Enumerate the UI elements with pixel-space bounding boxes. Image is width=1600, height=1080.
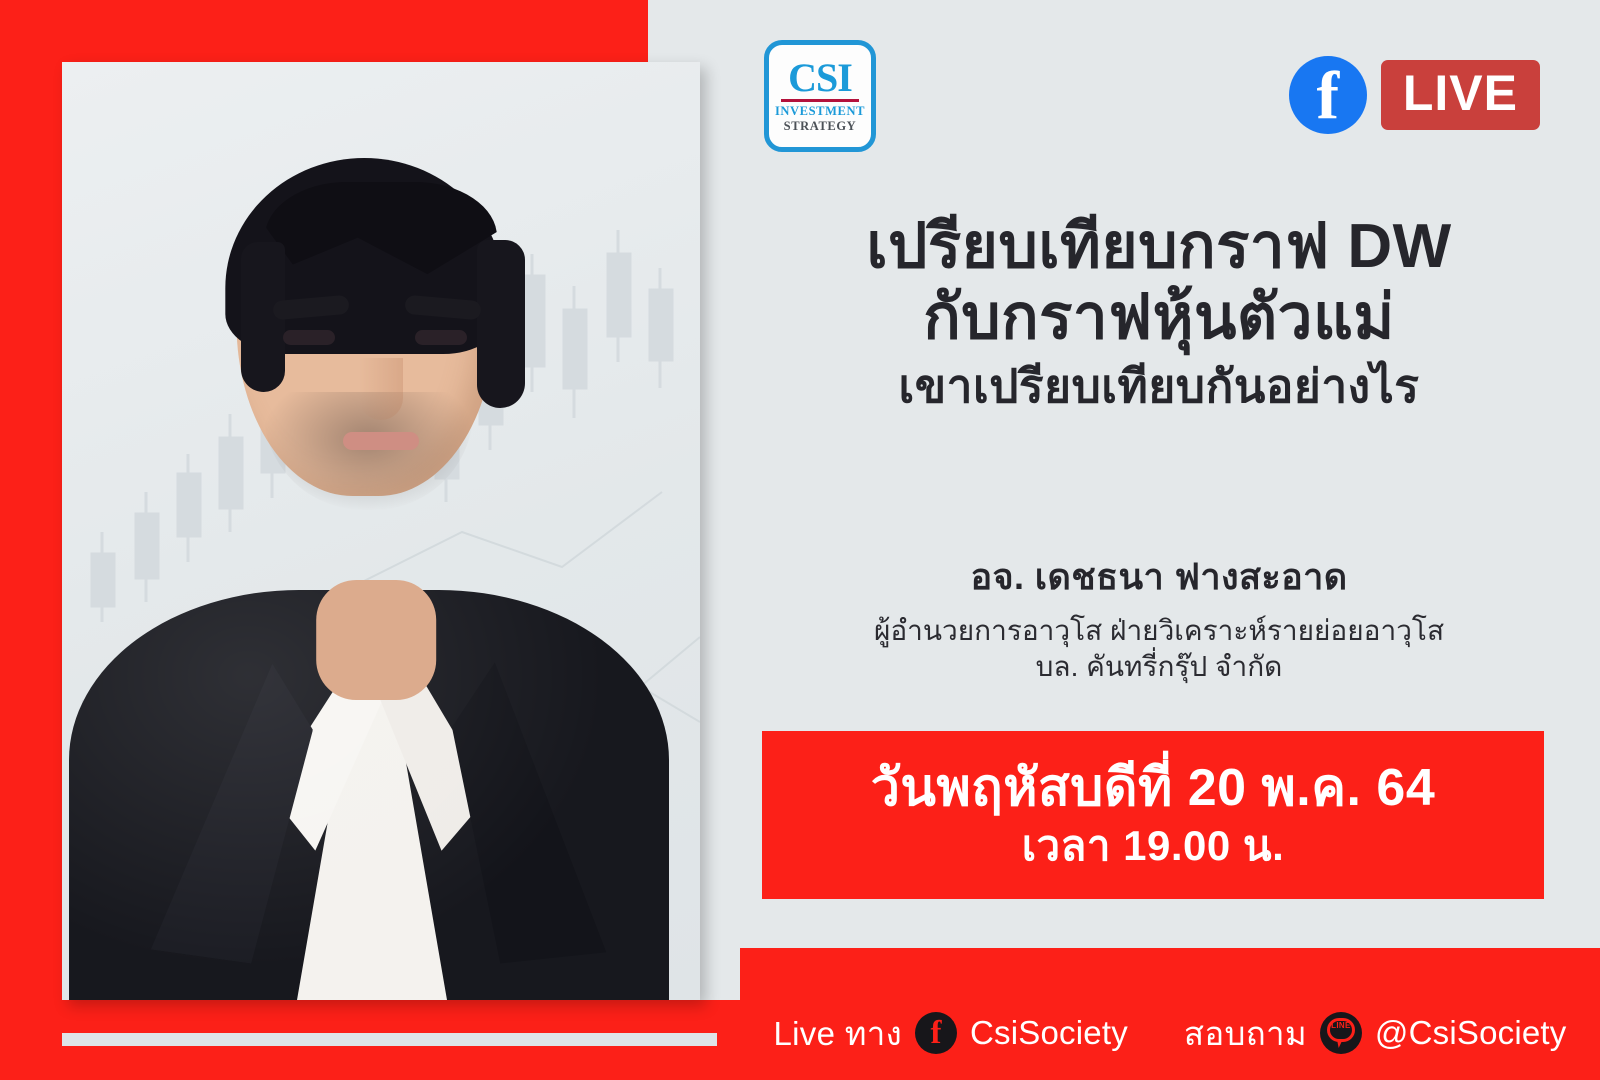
csi-logo-subtitle-strategy: STRATEGY [784,119,857,134]
footer-live-label: Live ทาง [774,1007,903,1060]
speaker-role: ผู้อำนวยการอาวุโส ฝ่ายวิเคราะห์รายย่อยอา… [718,613,1600,686]
speaker-role-line-2: บล. คันทรี่กรุ๊ป จำกัด [718,649,1600,685]
line-icon[interactable]: LINE [1320,1012,1362,1054]
footer-line-handle[interactable]: @CsiSociety [1375,1014,1567,1052]
speaker-info: อจ. เดชธนา ฟางสะอาด ผู้อำนวยการอาวุโส ฝ่… [718,548,1600,686]
schedule-date: วันพฤหัสบดีที่ 20 พ.ค. 64 [871,759,1436,819]
facebook-live-badge-group: f LIVE [1289,56,1540,134]
headline-line-1: เปรียบเทียบกราฟ DW [718,212,1600,281]
mouth [343,432,419,450]
facebook-icon[interactable]: f [1289,56,1367,134]
poster-canvas: CSI INVESTMENT STRATEGY f LIVE เปรียบเที… [0,0,1600,1080]
facebook-icon[interactable]: f [915,1012,957,1054]
nose [359,358,403,420]
eye-right [415,330,467,345]
csi-logo-wordmark: CSI [788,59,852,97]
eye-left [283,330,335,345]
footer-line-group: สอบถาม LINE @CsiSociety [1184,1007,1567,1060]
hair-side-right [477,240,525,408]
schedule-time: เวลา 19.00 น. [1022,821,1285,871]
csi-logo-subtitle-investment: INVESTMENT [775,104,865,119]
neck [316,580,436,700]
footer-facebook-handle[interactable]: CsiSociety [970,1014,1128,1052]
facebook-glyph: f [915,1012,957,1054]
footer-contact-label: สอบถาม [1184,1007,1307,1060]
speaker-photo [62,62,700,1000]
headline-line-3: เขาเปรียบเทียบกันอย่างไร [718,359,1600,414]
line-icon-text: LINE [1320,1022,1362,1030]
csi-logo: CSI INVESTMENT STRATEGY [764,40,876,152]
facebook-glyph: f [1289,61,1367,129]
speaker-name: อจ. เดชธนา ฟางสะอาด [718,548,1600,605]
content-column: CSI INVESTMENT STRATEGY f LIVE เปรียบเที… [718,0,1600,1080]
schedule-badge: วันพฤหัสบดีที่ 20 พ.ค. 64 เวลา 19.00 น. [762,731,1544,899]
csi-logo-divider [781,99,859,102]
page-title: เปรียบเทียบกราฟ DW กับกราฟหุ้นตัวแม่ เขา… [718,212,1600,414]
red-left-strip [0,0,62,1080]
live-badge: LIVE [1381,60,1540,130]
footer-bar: Live ทาง f CsiSociety สอบถาม LINE @CsiSo… [740,948,1600,1080]
speaker-role-line-1: ผู้อำนวยการอาวุโส ฝ่ายวิเคราะห์รายย่อยอา… [718,613,1600,649]
light-divider-bar [62,1033,717,1046]
headline-line-2: กับกราฟหุ้นตัวแม่ [718,281,1600,354]
footer-facebook-group: Live ทาง f CsiSociety [774,1007,1128,1060]
speaker-figure [62,62,700,1000]
